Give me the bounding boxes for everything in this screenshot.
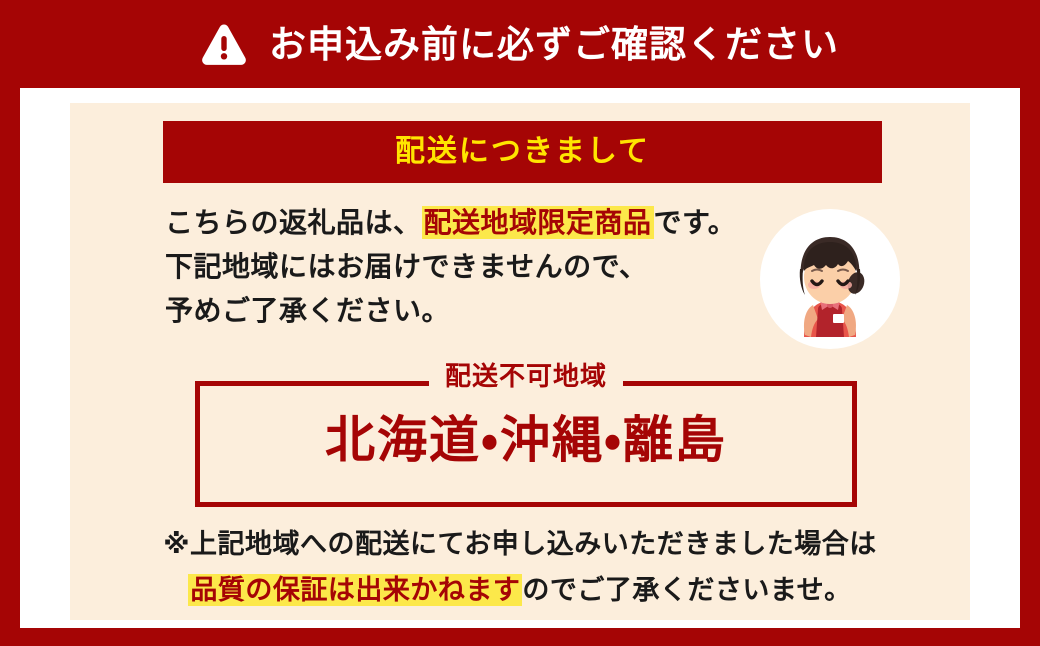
content-panel: 配送につきまして こちらの返礼品は、配送地域限定商品です。 下記地域にはお届けで… [70,103,970,620]
footnote-paragraph: ※上記地域への配送にてお申し込みいただきました場合は 品質の保証は出来かねますの… [70,521,970,613]
footnote-line2-after: のでご了承くださいませ。 [522,575,851,605]
section-banner: 配送につきまして [163,121,882,183]
warning-triangle-icon [201,22,247,66]
no-delivery-area-box: 配送不可地域 北海道・沖縄・離島 [195,381,857,507]
page-title: お申込み前に必ずご確認ください [269,26,839,63]
frame-right-border [1020,0,1040,646]
footnote-line1: ※上記地域への配送にてお申し込みいただきました場合は [70,521,970,567]
intro-line1-after: です。 [654,207,737,238]
frame-bottom-border [0,628,1040,646]
no-delivery-regions: 北海道・沖縄・離島 [200,412,852,470]
footnote-line2: 品質の保証は出来かねますのでご了承くださいませ。 [70,567,970,613]
intro-highlight-limited-area: 配送地域限定商品 [422,206,654,239]
no-delivery-legend: 配送不可地域 [429,363,623,389]
bowing-staff-woman-illustration [760,209,900,349]
bowing-woman-figure-icon [760,209,900,349]
intro-paragraph: こちらの返礼品は、配送地域限定商品です。 下記地域にはお届けできませんので、 予… [165,201,765,333]
frame-left-border [0,0,20,646]
illustration-circle-background [760,209,900,349]
intro-line1-before: こちらの返礼品は、 [165,207,422,238]
notice-screenshot: お申込み前に必ずご確認ください 配送につきまして こちらの返礼品は、配送地域限定… [0,0,1040,646]
footnote-highlight-no-quality-guarantee: 品質の保証は出来かねます [188,574,522,606]
header-bar: お申込み前に必ずご確認ください [0,0,1040,88]
intro-line3: 予めご了承ください。 [165,289,765,333]
intro-line2: 下記地域にはお届けできませんので、 [165,245,765,289]
section-banner-title: 配送につきまして [395,137,650,167]
